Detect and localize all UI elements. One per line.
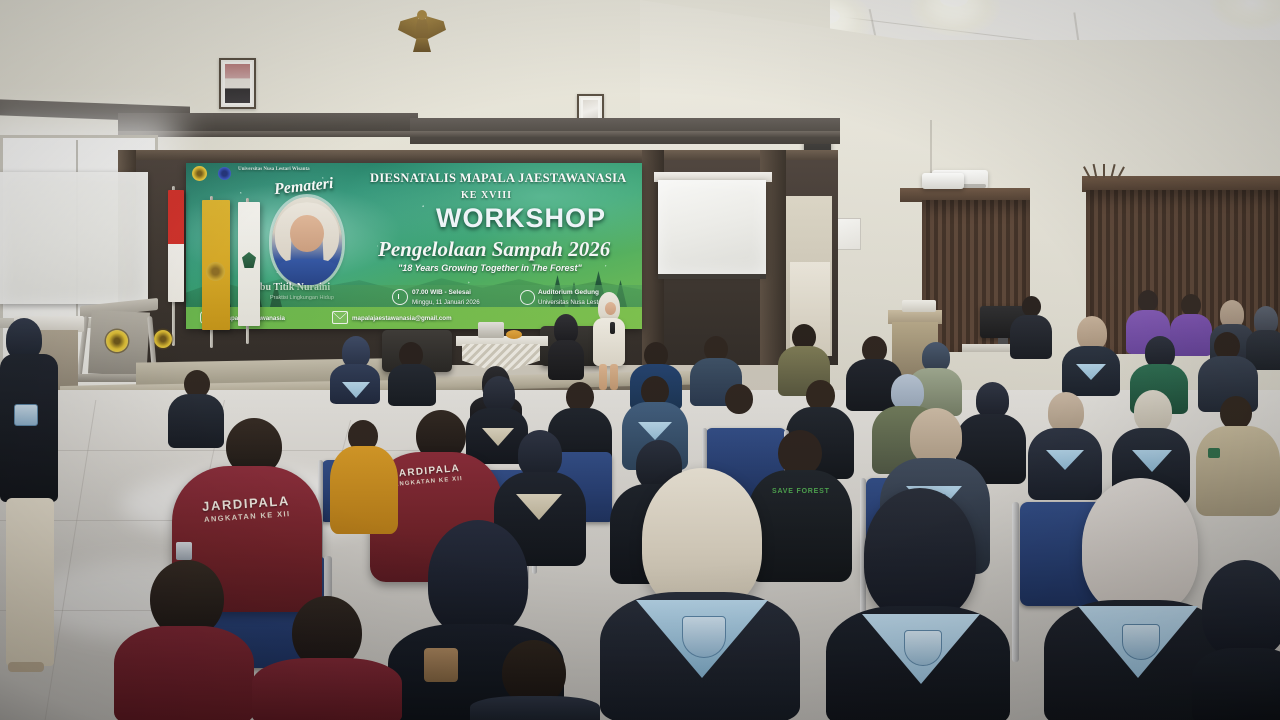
audience-person-foreground [826,488,1010,720]
audience-person [330,336,380,402]
person-shoe [8,662,44,672]
banner-topic-line: Pengelolaan Sampah 2026 [378,239,610,260]
audience-person-foreground [470,640,600,720]
scarf-badge [682,616,726,658]
banner-workshop-line: WORKSHOP [436,205,606,232]
university-flag-emblem [206,262,225,281]
chair-frame [1012,502,1019,662]
audience-person-foreground [114,560,254,720]
audience-person-foreground [252,596,402,720]
standing-person [0,318,64,708]
audience-person [1062,316,1120,392]
podium-university-crest-icon [106,330,128,352]
audience-person-foreground [600,468,800,720]
indonesia-flag [168,190,184,302]
presenter-tunic [593,318,625,366]
banner-event-line: DIESNATALIS MAPALA JAESTAWANASIA [370,172,627,185]
jacket-patch [14,404,38,426]
banner-email: mapalajaestawanasia@gmail.com [352,316,452,322]
ceiling-projector [922,173,964,189]
fruit-bowl [506,330,522,339]
floor-item-box [424,648,458,682]
portrait-frame-left [219,58,256,109]
background-person [1010,296,1052,358]
jacket-patch [176,542,192,560]
screen-weight-bar [658,274,766,279]
banner-org-header: Universitas Nusa Lestari Wisanta [238,167,310,172]
banner-time: 07.00 WIB - Selesai [412,290,471,297]
clock-icon [392,289,408,305]
banner-tagline: "18 Years Growing Together in The Forest… [398,264,582,273]
stage-seated-person [548,314,584,380]
stage-wall-trim [118,150,838,160]
clock-hand [398,294,399,299]
side-table-equipment [902,300,936,312]
email-icon [332,311,348,324]
laptop-on-table [478,322,504,338]
person-trousers [6,498,54,666]
decor-spikes [1084,164,1124,178]
location-pin-icon [520,290,535,305]
organization-logo-icon [218,167,231,180]
pillar-crest-icon [154,330,172,348]
audience-person-foreground [1192,560,1280,720]
projection-screen-right [658,180,766,274]
banner-date: Minggu, 11 Januari 2026 [412,300,480,306]
person-jacket [0,354,58,502]
beam-lip [118,131,840,137]
garuda-pancasila-emblem [398,10,446,56]
person-hijab [642,468,762,610]
auditorium-photo: Universitas Nusa Lestari Wisanta Pemater… [0,0,1280,720]
projection-screen-left [0,172,148,304]
audience-person [388,342,436,404]
microphone-icon [610,322,615,334]
presenter-face [605,302,616,315]
speaker-photo [272,197,342,285]
banner-edition-line: KE XVIII [461,191,512,201]
institution-logo-icon [192,166,207,181]
audience-person [330,420,398,530]
